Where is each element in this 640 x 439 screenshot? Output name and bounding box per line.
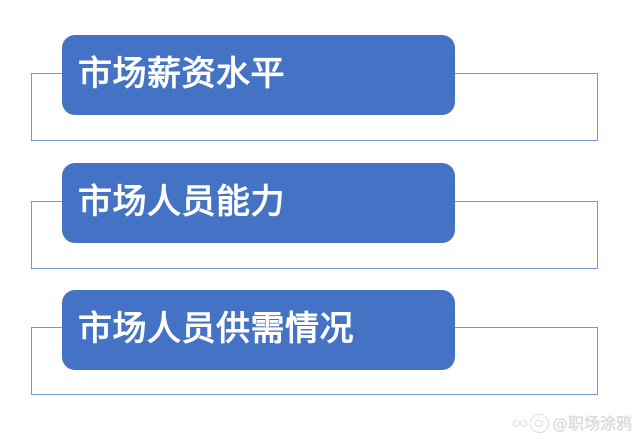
watermark-eyes-icon	[513, 417, 527, 431]
weibo-logo-icon	[530, 414, 549, 433]
banner-label-1: 市场薪资水平	[78, 54, 285, 94]
banner-pill-2[interactable]: 市场人员能力	[62, 163, 455, 243]
slide-canvas: 市场薪资水平 市场人员能力 市场人员供需情况 @职场涂鸦	[0, 0, 640, 439]
banner-label-3: 市场人员供需情况	[78, 309, 354, 349]
banner-pill-1[interactable]: 市场薪资水平	[62, 35, 455, 115]
watermark: @职场涂鸦	[513, 414, 632, 433]
watermark-text: @职场涂鸦	[552, 415, 632, 433]
banner-pill-3[interactable]: 市场人员供需情况	[62, 290, 455, 370]
banner-label-2: 市场人员能力	[78, 182, 285, 222]
